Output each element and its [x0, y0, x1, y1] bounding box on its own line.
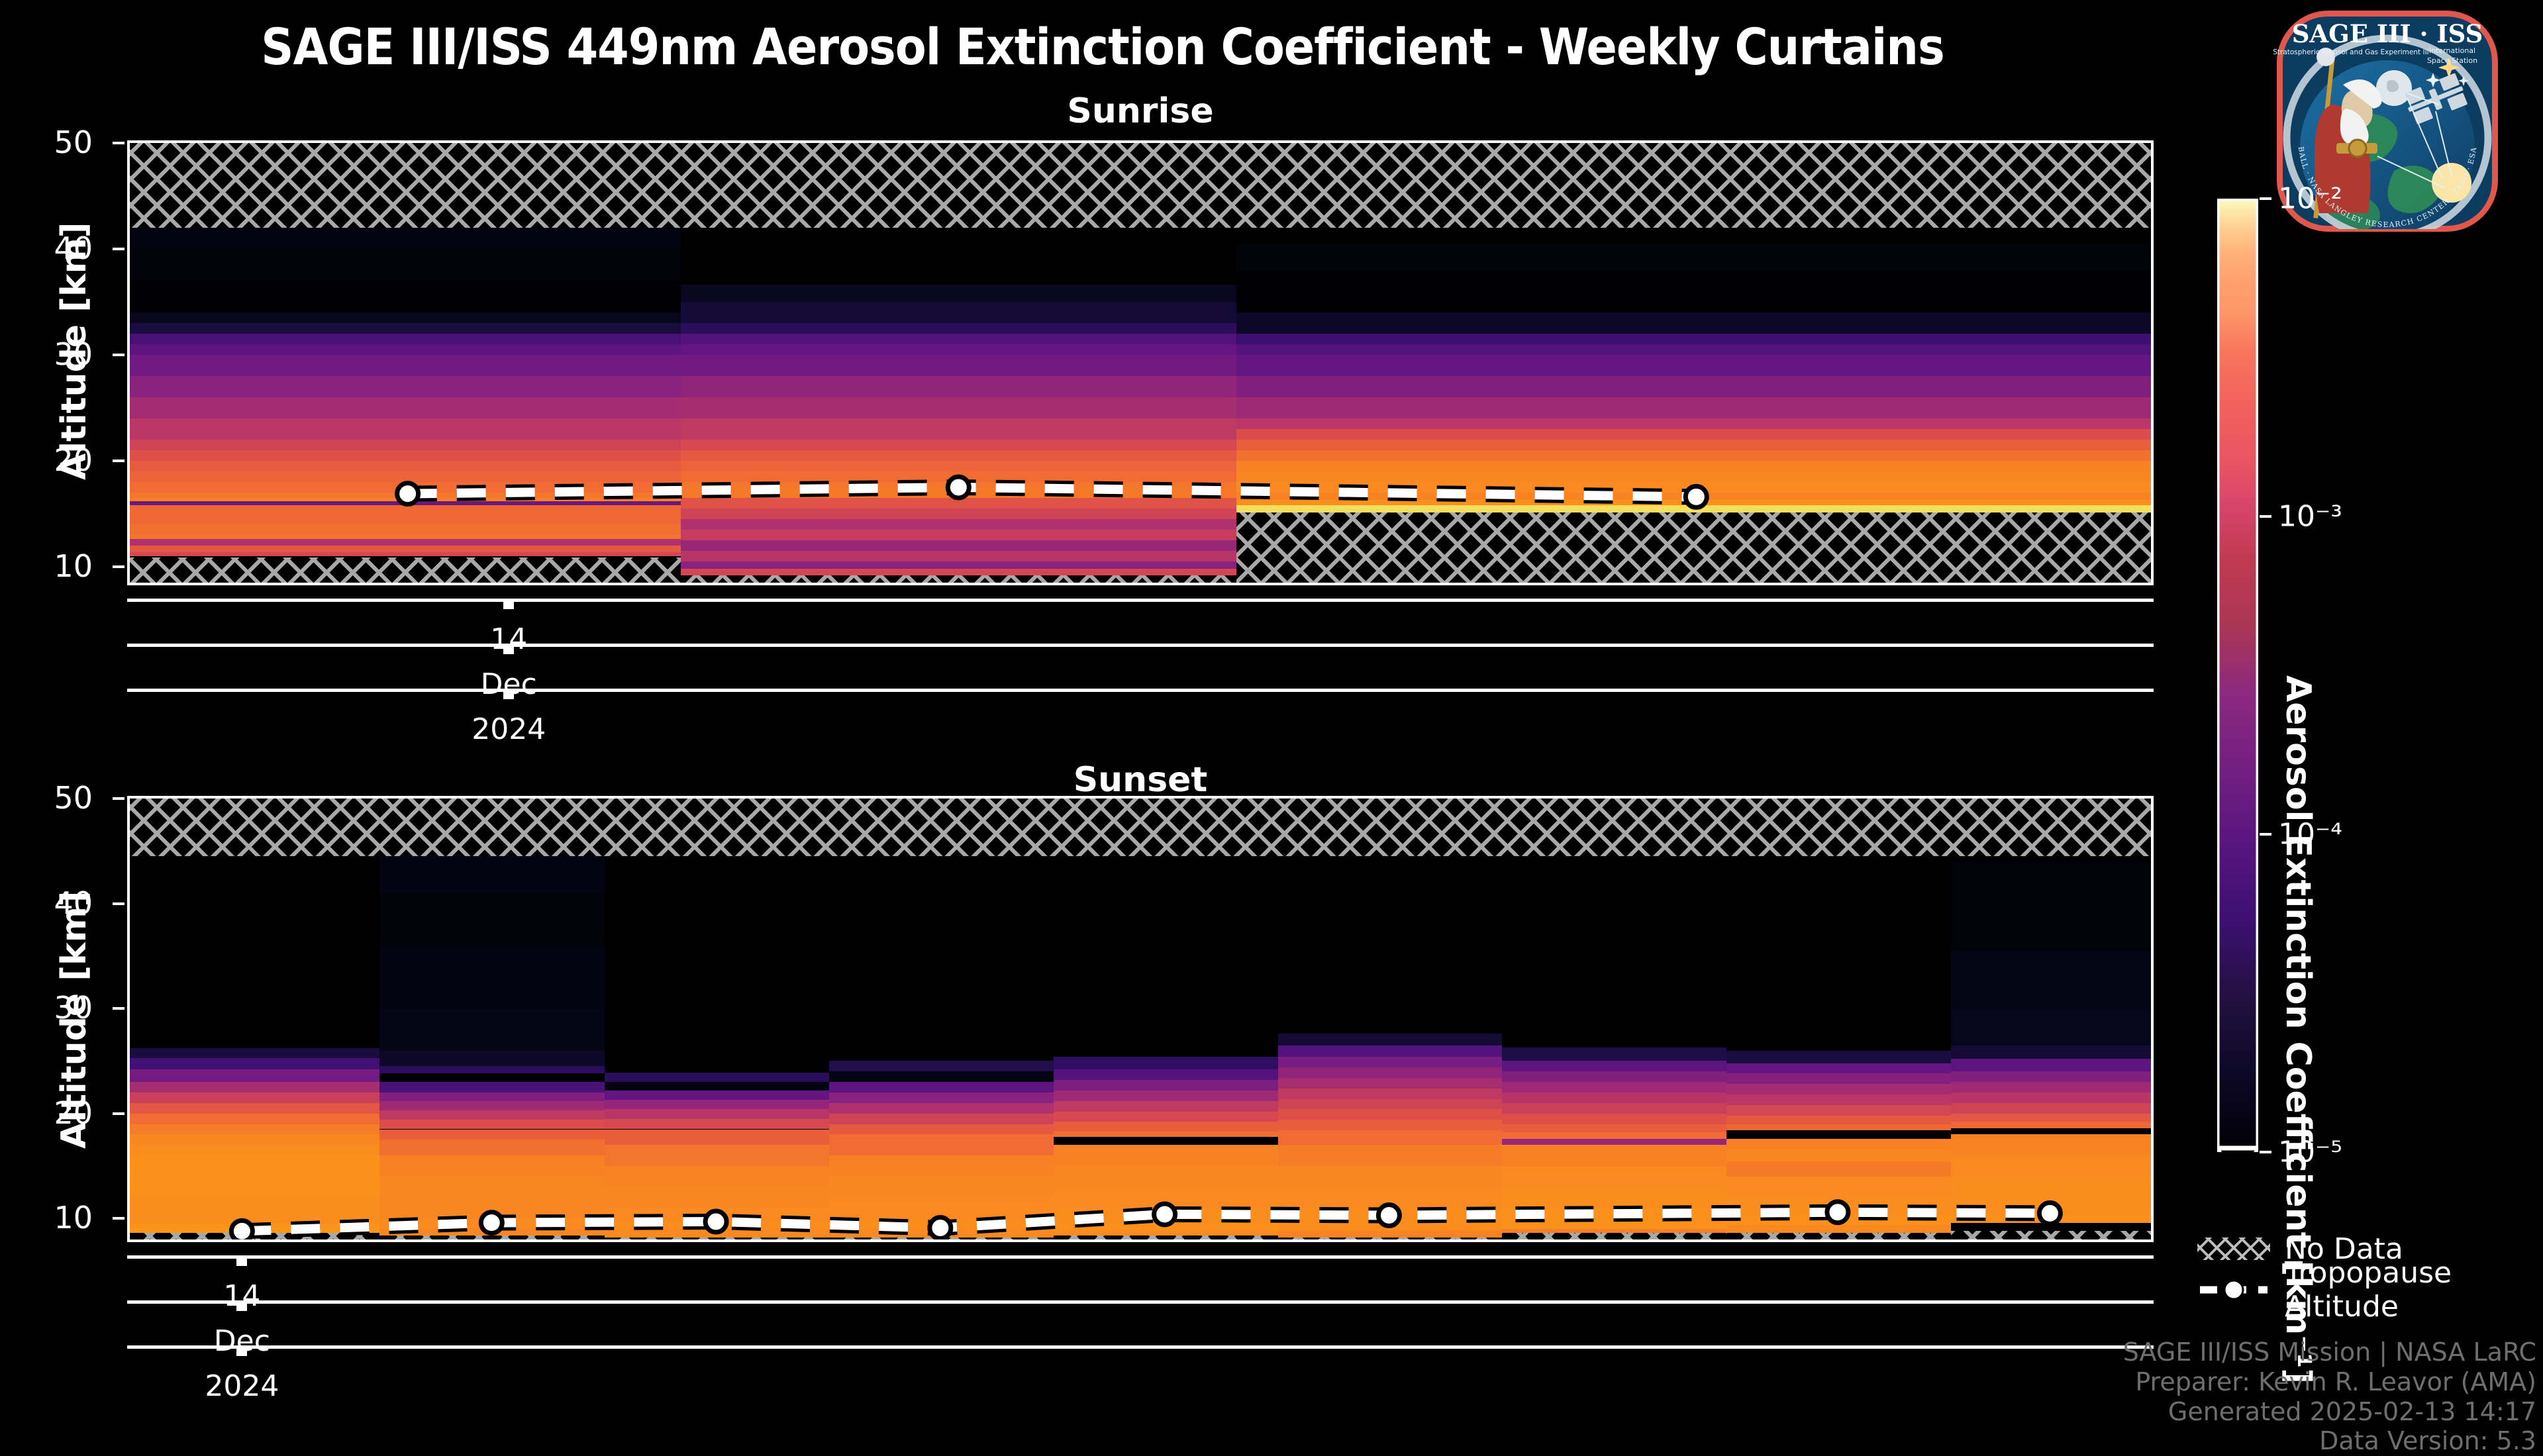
tropopause-marker [948, 477, 969, 498]
colorbar-tick-mark [2260, 197, 2271, 200]
y-tick-label: 20 [0, 1098, 93, 1128]
footer-line-preparer: Preparer: Kevin R. Leavor (AMA) [2123, 1367, 2536, 1397]
panel-title-sunset: Sunset [127, 760, 2154, 800]
tropopause-marker [1685, 486, 1707, 507]
x-axis-level-line [127, 689, 2154, 692]
x-tick-label-year: 2024 [205, 1369, 279, 1403]
colorbar[interactable]: 10⁻²10⁻³10⁻⁴10⁻⁵ [2217, 199, 2258, 1152]
x-tick-mark [236, 1302, 247, 1311]
x-axis-level-line [127, 1255, 2154, 1259]
y-tick-mark [113, 902, 125, 905]
logo-title: SAGE III · ISS [2292, 19, 2483, 48]
tropopause-marker [397, 483, 419, 505]
page-title: SAGE III/ISS 449nm Aerosol Extinction Co… [0, 17, 2205, 76]
x-axis-level-line [127, 1345, 2154, 1349]
footer-line-mission: SAGE III/ISS Mission | NASA LaRC [2123, 1337, 2536, 1367]
footer-line-generated: Generated 2025-02-13 14:17 [2123, 1397, 2536, 1427]
no-data-hatch-icon [2197, 1234, 2270, 1264]
y-tick-label: 30 [0, 993, 93, 1023]
tropopause-marker [481, 1212, 502, 1234]
x-tick-mark [236, 1257, 247, 1266]
tropopause-marker [1827, 1202, 1848, 1223]
tropopause-line-icon [2197, 1275, 2270, 1305]
y-tick-mark [113, 142, 125, 144]
tropopause-altitude-line [130, 143, 2151, 583]
logo-subtitle-left: Stratospheric Aerosol and Gas Experiment… [2273, 48, 2429, 56]
tropopause-marker [2039, 1202, 2060, 1224]
y-tick-label: 10 [0, 551, 93, 581]
tropopause-marker [231, 1220, 252, 1241]
y-tick-label: 50 [0, 127, 93, 158]
y-tick-mark [113, 354, 125, 356]
colorbar-tick-label: 10⁻² [2278, 182, 2342, 216]
tropopause-altitude-line [130, 799, 2151, 1239]
y-tick-label: 50 [0, 783, 93, 813]
legend-label-tropopause: Tropopause Altitude [2285, 1256, 2542, 1324]
colorbar-tick-mark [2260, 515, 2271, 518]
y-tick-mark [113, 460, 125, 462]
y-tick-mark [113, 565, 125, 568]
x-tick-mark [236, 1347, 247, 1356]
legend-item-tropopause[interactable]: Tropopause Altitude [2197, 1269, 2542, 1310]
x-tick-mark [503, 600, 514, 609]
x-tick-mark [503, 690, 514, 699]
tropopause-marker [930, 1218, 951, 1239]
y-tick-label: 40 [0, 233, 93, 264]
colorbar-tick-label: 10⁻³ [2278, 499, 2342, 533]
y-tick-label: 20 [0, 445, 93, 475]
tropopause-marker [1154, 1204, 1175, 1225]
footer-credits: SAGE III/ISS Mission | NASA LaRC Prepare… [2123, 1337, 2536, 1456]
y-tick-mark [113, 797, 125, 800]
y-tick-label: 30 [0, 339, 93, 369]
y-tick-label: 40 [0, 888, 93, 918]
logo-subtitle-right-1: International [2429, 46, 2475, 55]
x-tick-label-year: 2024 [472, 712, 546, 746]
x-axis-level-line [127, 1300, 2154, 1304]
y-tick-label: 10 [0, 1202, 93, 1233]
footer-line-version: Data Version: 5.3 [2123, 1426, 2536, 1456]
tropopause-marker [1378, 1205, 1399, 1226]
x-axis-level-line [127, 644, 2154, 647]
panel-title-sunrise: Sunrise [127, 91, 2154, 131]
plot-area-sunset[interactable] [127, 796, 2154, 1242]
colorbar-tick-mark [2260, 833, 2271, 836]
x-axis-level-line [127, 599, 2154, 602]
x-tick-mark [503, 645, 514, 654]
y-tick-mark [113, 1007, 125, 1010]
y-tick-mark [113, 1112, 125, 1115]
colorbar-tick-mark [2260, 1151, 2271, 1153]
tropopause-marker [705, 1211, 726, 1232]
y-tick-mark [113, 248, 125, 250]
plot-area-sunrise[interactable] [127, 140, 2154, 585]
legend: No Data Tropopause Altitude [2197, 1228, 2542, 1310]
logo-subtitle-right-2: Space Station [2427, 56, 2477, 65]
y-tick-mark [113, 1217, 125, 1220]
